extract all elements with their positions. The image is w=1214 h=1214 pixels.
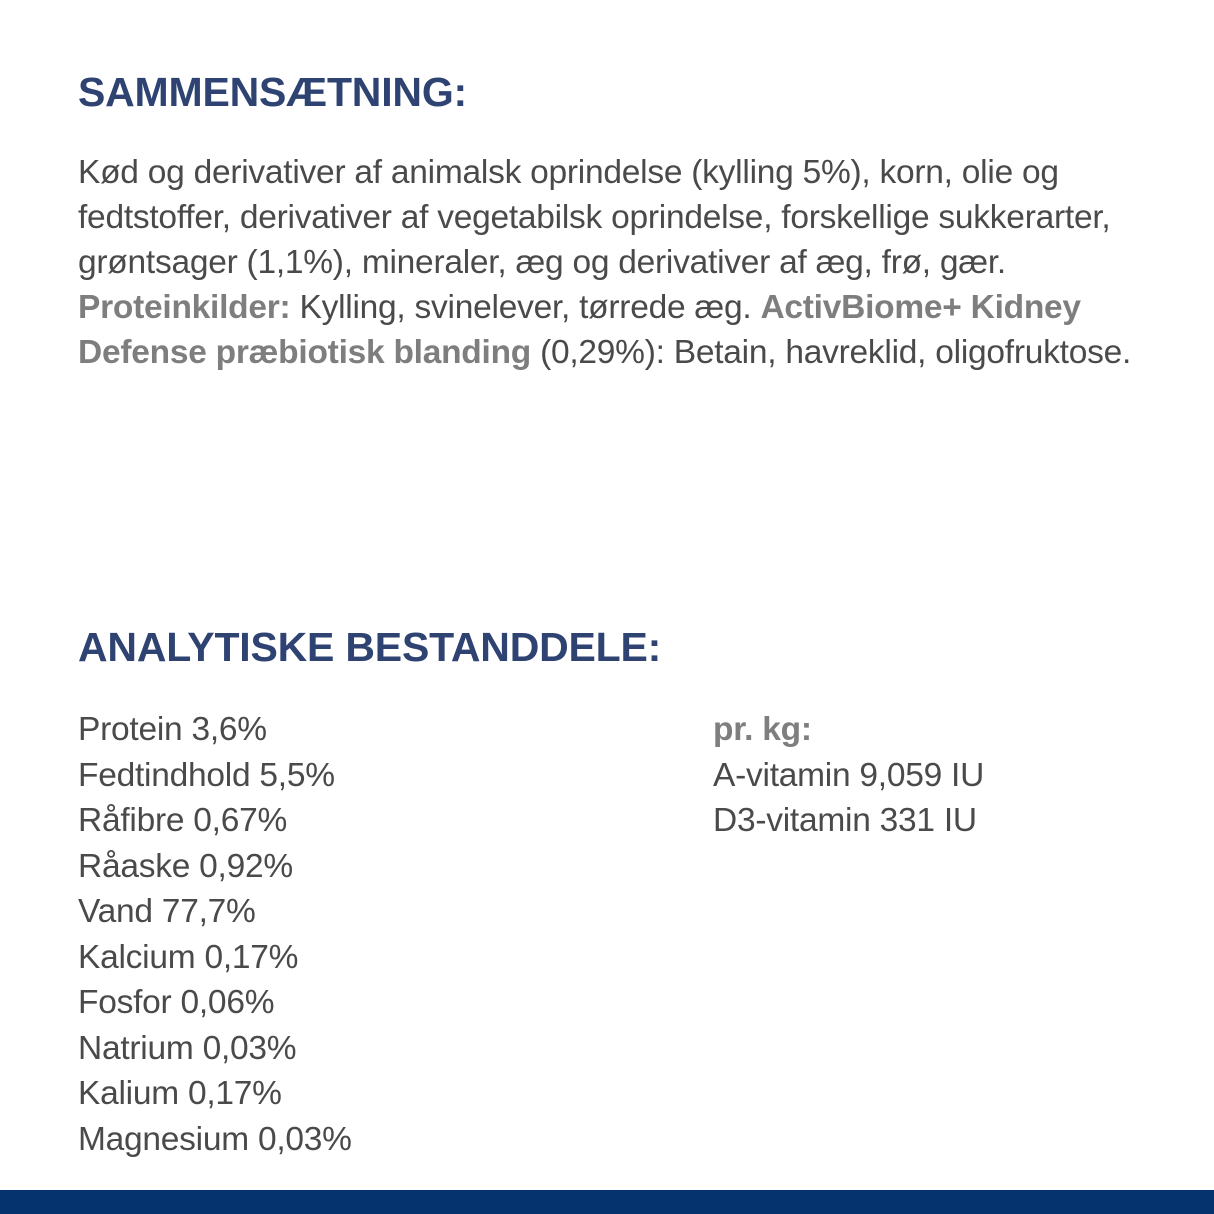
per-kg-header: pr. kg:	[713, 707, 1178, 753]
protein-sources-label: Proteinkilder:	[78, 289, 290, 326]
analytical-left-column: Protein 3,6% Fedtindhold 5,5% Råfibre 0,…	[78, 707, 713, 1162]
analytical-constituents-heading: ANALYTISKE BESTANDDELE:	[78, 623, 661, 671]
composition-text-part-1: Kød og derivativer af animalsk oprindels…	[78, 154, 1110, 281]
analytical-constituents-columns: Protein 3,6% Fedtindhold 5,5% Råfibre 0,…	[78, 707, 1178, 1162]
list-item: Kalium 0,17%	[78, 1071, 713, 1117]
list-item: Natrium 0,03%	[78, 1026, 713, 1072]
list-item: Råaske 0,92%	[78, 844, 713, 890]
list-item: Magnesium 0,03%	[78, 1117, 713, 1163]
list-item: Råfibre 0,67%	[78, 798, 713, 844]
composition-text-part-3: (0,29%): Betain, havreklid, oligofruktos…	[531, 334, 1131, 371]
list-item: Vand 77,7%	[78, 889, 713, 935]
list-item: Fedtindhold 5,5%	[78, 753, 713, 799]
analytical-right-column: pr. kg: A-vitamin 9,059 IU D3-vitamin 33…	[713, 707, 1178, 844]
composition-heading: SAMMENSÆTNING:	[78, 68, 467, 116]
list-item: Protein 3,6%	[78, 707, 713, 753]
composition-text-part-2: Kylling, svinelever, tørrede æg.	[290, 289, 760, 326]
bottom-brand-bar	[0, 1190, 1214, 1214]
list-item: A-vitamin 9,059 IU	[713, 753, 1178, 799]
list-item: Kalcium 0,17%	[78, 935, 713, 981]
list-item: Fosfor 0,06%	[78, 980, 713, 1026]
label-page: SAMMENSÆTNING: Kød og derivativer af ani…	[0, 0, 1214, 1214]
composition-paragraph: Kød og derivativer af animalsk oprindels…	[78, 150, 1178, 375]
list-item: D3-vitamin 331 IU	[713, 798, 1178, 844]
